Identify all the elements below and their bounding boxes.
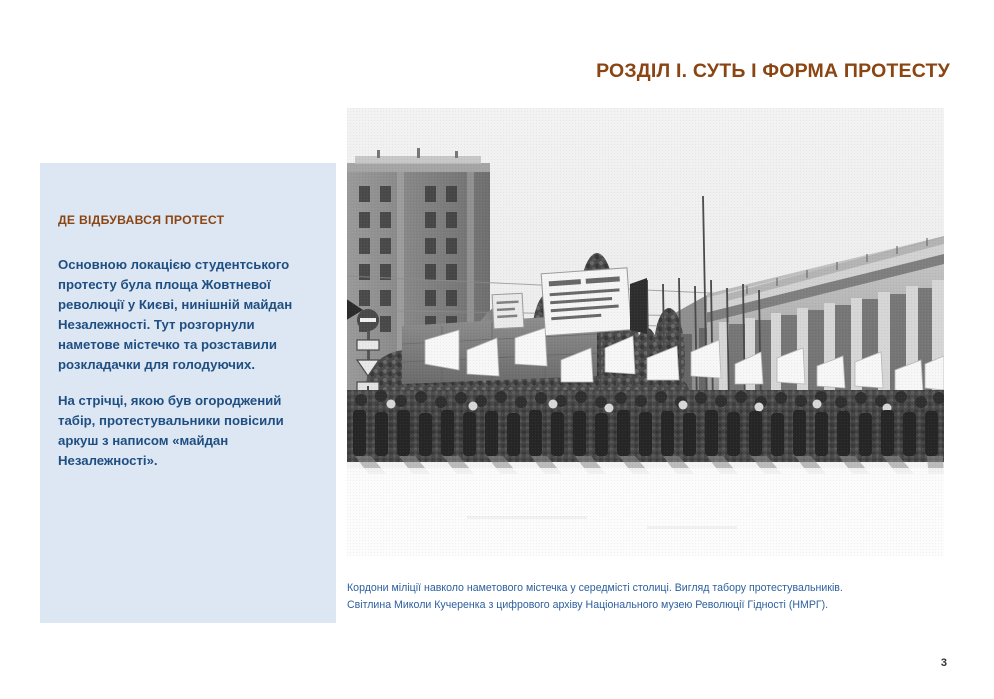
page-title: РОЗДІЛ І. СУТЬ І ФОРМА ПРОТЕСТУ (596, 60, 950, 83)
photo-caption: Кордони міліції навколо наметового місте… (347, 580, 947, 614)
photograph-artwork (347, 108, 944, 556)
info-panel: ДЕ ВІДБУВАВСЯ ПРОТЕСТ Основною локацією … (40, 163, 336, 623)
info-panel-kicker: ДЕ ВІДБУВАВСЯ ПРОТЕСТ (58, 213, 308, 229)
page-number: 3 (941, 657, 947, 669)
photo-caption-line: Світлина Миколи Кучеренка з цифрового ар… (347, 597, 947, 614)
photo-caption-line: Кордони міліції навколо наметового місте… (347, 580, 947, 597)
info-panel-paragraph: Основною локацією студентського протесту… (58, 255, 308, 375)
protest-camp-photograph (347, 108, 944, 556)
info-panel-paragraph: На стрічці, якою був огороджений табір, … (58, 391, 308, 471)
